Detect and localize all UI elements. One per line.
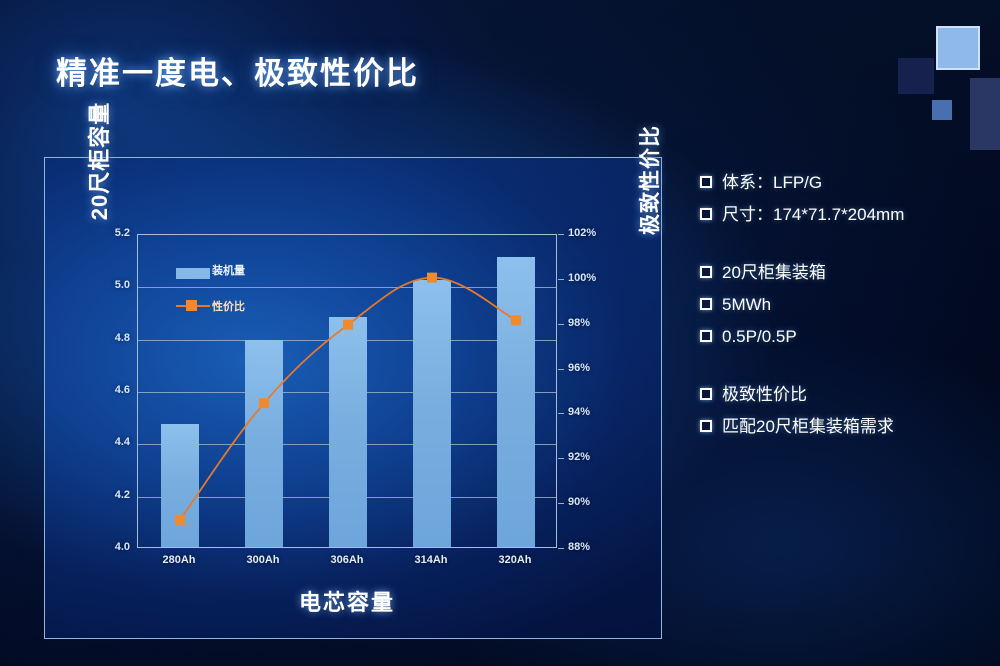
x-axis-tick-label: 300Ah xyxy=(228,554,298,566)
chart-x-axis-title: 电芯容量 xyxy=(137,585,557,617)
bullet-group-1: 体系：LFP/G 尺寸：174*71.7*204mm xyxy=(700,170,990,228)
list-item-label: 匹配20尺柜集装箱需求 xyxy=(722,414,894,440)
chart-line-series xyxy=(138,235,558,549)
line-marker xyxy=(511,315,521,325)
y2-axis-tick-label: 102% xyxy=(568,227,608,239)
x-axis-tick-label: 280Ah xyxy=(144,554,214,566)
decorative-square-mid xyxy=(932,100,952,120)
square-bullet-icon xyxy=(700,298,712,310)
y2-axis-tick-label: 96% xyxy=(568,362,608,374)
y2-axis-tick-label: 90% xyxy=(568,496,608,508)
y-axis-tick-label: 5.0 xyxy=(96,279,130,291)
chart-y2-axis-title: 极致性价比 xyxy=(634,75,664,285)
square-bullet-icon xyxy=(700,208,712,220)
group-spacer xyxy=(700,356,990,382)
list-item: 极致性价比 xyxy=(700,382,990,408)
list-item-label: 极致性价比 xyxy=(722,382,807,408)
line-marker xyxy=(259,398,269,408)
chart-y-axis-title: 20尺柜容量 xyxy=(82,45,114,277)
square-bullet-icon xyxy=(700,420,712,432)
y2-axis-tick-mark xyxy=(558,234,564,235)
group-spacer xyxy=(700,234,990,260)
y2-axis-tick-label: 98% xyxy=(568,317,608,329)
legend-line-marker-icon xyxy=(186,300,197,311)
decorative-square-dark-1 xyxy=(898,58,934,94)
y2-axis-tick-mark xyxy=(558,369,564,370)
list-item: 尺寸：174*71.7*204mm xyxy=(700,202,990,228)
square-bullet-icon xyxy=(700,330,712,342)
y2-axis-tick-mark xyxy=(558,458,564,459)
decorative-square-light xyxy=(936,26,980,70)
y-axis-tick-label: 4.8 xyxy=(96,332,130,344)
list-item-label: 体系：LFP/G xyxy=(722,170,822,196)
list-item: 体系：LFP/G xyxy=(700,170,990,196)
square-bullet-icon xyxy=(700,266,712,278)
y2-axis-tick-mark xyxy=(558,503,564,504)
legend-line-label: 性价比 xyxy=(212,298,245,314)
list-item-label: 0.5P/0.5P xyxy=(722,324,797,350)
y2-axis-tick-label: 92% xyxy=(568,451,608,463)
y-axis-tick-label: 5.2 xyxy=(96,227,130,239)
list-item-label: 尺寸：174*71.7*204mm xyxy=(722,202,904,228)
list-item-label: 20尺柜集装箱 xyxy=(722,260,826,286)
list-item: 5MWh xyxy=(700,292,990,318)
x-axis-tick-label: 306Ah xyxy=(312,554,382,566)
y-axis-tick-label: 4.6 xyxy=(96,384,130,396)
list-item: 20尺柜集装箱 xyxy=(700,260,990,286)
y-axis-tick-label: 4.4 xyxy=(96,436,130,448)
y2-axis-tick-mark xyxy=(558,413,564,414)
x-axis-tick-label: 314Ah xyxy=(396,554,466,566)
square-bullet-icon xyxy=(700,388,712,400)
x-axis-tick-label: 320Ah xyxy=(480,554,550,566)
slide-root: 精准一度电、极致性价比 20尺柜容量 极致性价比 电芯容量 4.04.24.44… xyxy=(0,0,1000,666)
bullet-group-2: 20尺柜集装箱 5MWh 0.5P/0.5P xyxy=(700,260,990,350)
chart-plot-area xyxy=(137,234,557,548)
y2-axis-tick-label: 88% xyxy=(568,541,608,553)
bullet-group-3: 极致性价比 匹配20尺柜集装箱需求 xyxy=(700,382,990,440)
list-item-label: 5MWh xyxy=(722,292,771,318)
y2-axis-tick-label: 94% xyxy=(568,406,608,418)
y2-axis-tick-mark xyxy=(558,548,564,549)
bullet-list: 体系：LFP/G 尺寸：174*71.7*204mm 20尺柜集装箱 5MWh … xyxy=(700,170,990,446)
legend-bar-label: 装机量 xyxy=(212,262,245,278)
decorative-square-dark-2 xyxy=(970,78,1000,150)
y2-axis-tick-mark xyxy=(558,324,564,325)
list-item: 0.5P/0.5P xyxy=(700,324,990,350)
legend-bar-swatch xyxy=(176,268,210,279)
line-marker xyxy=(427,273,437,283)
y-axis-tick-label: 4.0 xyxy=(96,541,130,553)
list-item: 匹配20尺柜集装箱需求 xyxy=(700,414,990,440)
line-marker xyxy=(343,320,353,330)
y2-axis-tick-mark xyxy=(558,279,564,280)
y-axis-tick-label: 4.2 xyxy=(96,489,130,501)
square-bullet-icon xyxy=(700,176,712,188)
y2-axis-tick-label: 100% xyxy=(568,272,608,284)
line-marker xyxy=(175,515,185,525)
